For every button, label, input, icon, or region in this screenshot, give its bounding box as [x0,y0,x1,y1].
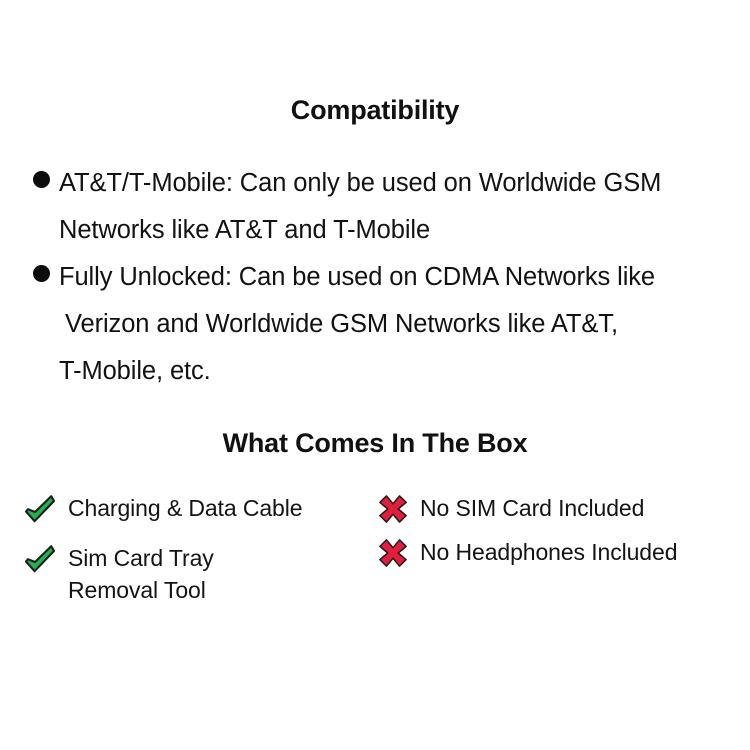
compatibility-list: AT&T/T-Mobile: Can only be used on World… [0,160,750,395]
compatibility-list-item: AT&T/T-Mobile: Can only be used on World… [0,160,750,254]
list-item: Sim Card Tray Removal Tool [24,542,374,606]
compatibility-list-item: Fully Unlocked: Can be used on CDMA Netw… [0,254,750,395]
check-mark-icon [24,494,56,524]
box-contents-heading: What Comes In The Box [0,428,750,459]
list-item: No Headphones Included [377,536,737,580]
compatibility-heading: Compatibility [0,95,750,126]
compatibility-line: AT&T/T-Mobile: Can only be used on World… [33,160,750,207]
list-item: Charging & Data Cable [24,492,374,534]
cross-mark-icon [377,494,409,524]
list-item-label: No SIM Card Included [377,492,737,524]
bullet-dot-icon [33,265,50,282]
list-item-label: Charging & Data Cable [24,492,374,524]
list-item: No SIM Card Included [377,492,737,536]
check-mark-icon [24,544,56,574]
compatibility-line: Verizon and Worldwide GSM Networks like … [33,301,750,348]
compatibility-line: Networks like AT&T and T-Mobile [33,207,750,254]
list-item-label: No Headphones Included [377,536,737,568]
bullet-dot-icon [33,171,50,188]
compatibility-line: Fully Unlocked: Can be used on CDMA Netw… [33,254,750,301]
excluded-items-column: No SIM Card Included No Headphones Inclu… [377,492,737,580]
product-info-panel: Compatibility AT&T/T-Mobile: Can only be… [0,0,750,750]
list-item-label: Sim Card Tray Removal Tool [24,542,374,606]
cross-mark-icon [377,538,409,568]
included-items-column: Charging & Data Cable Sim Card Tray Remo… [24,492,374,608]
compatibility-line: T-Mobile, etc. [33,348,750,395]
